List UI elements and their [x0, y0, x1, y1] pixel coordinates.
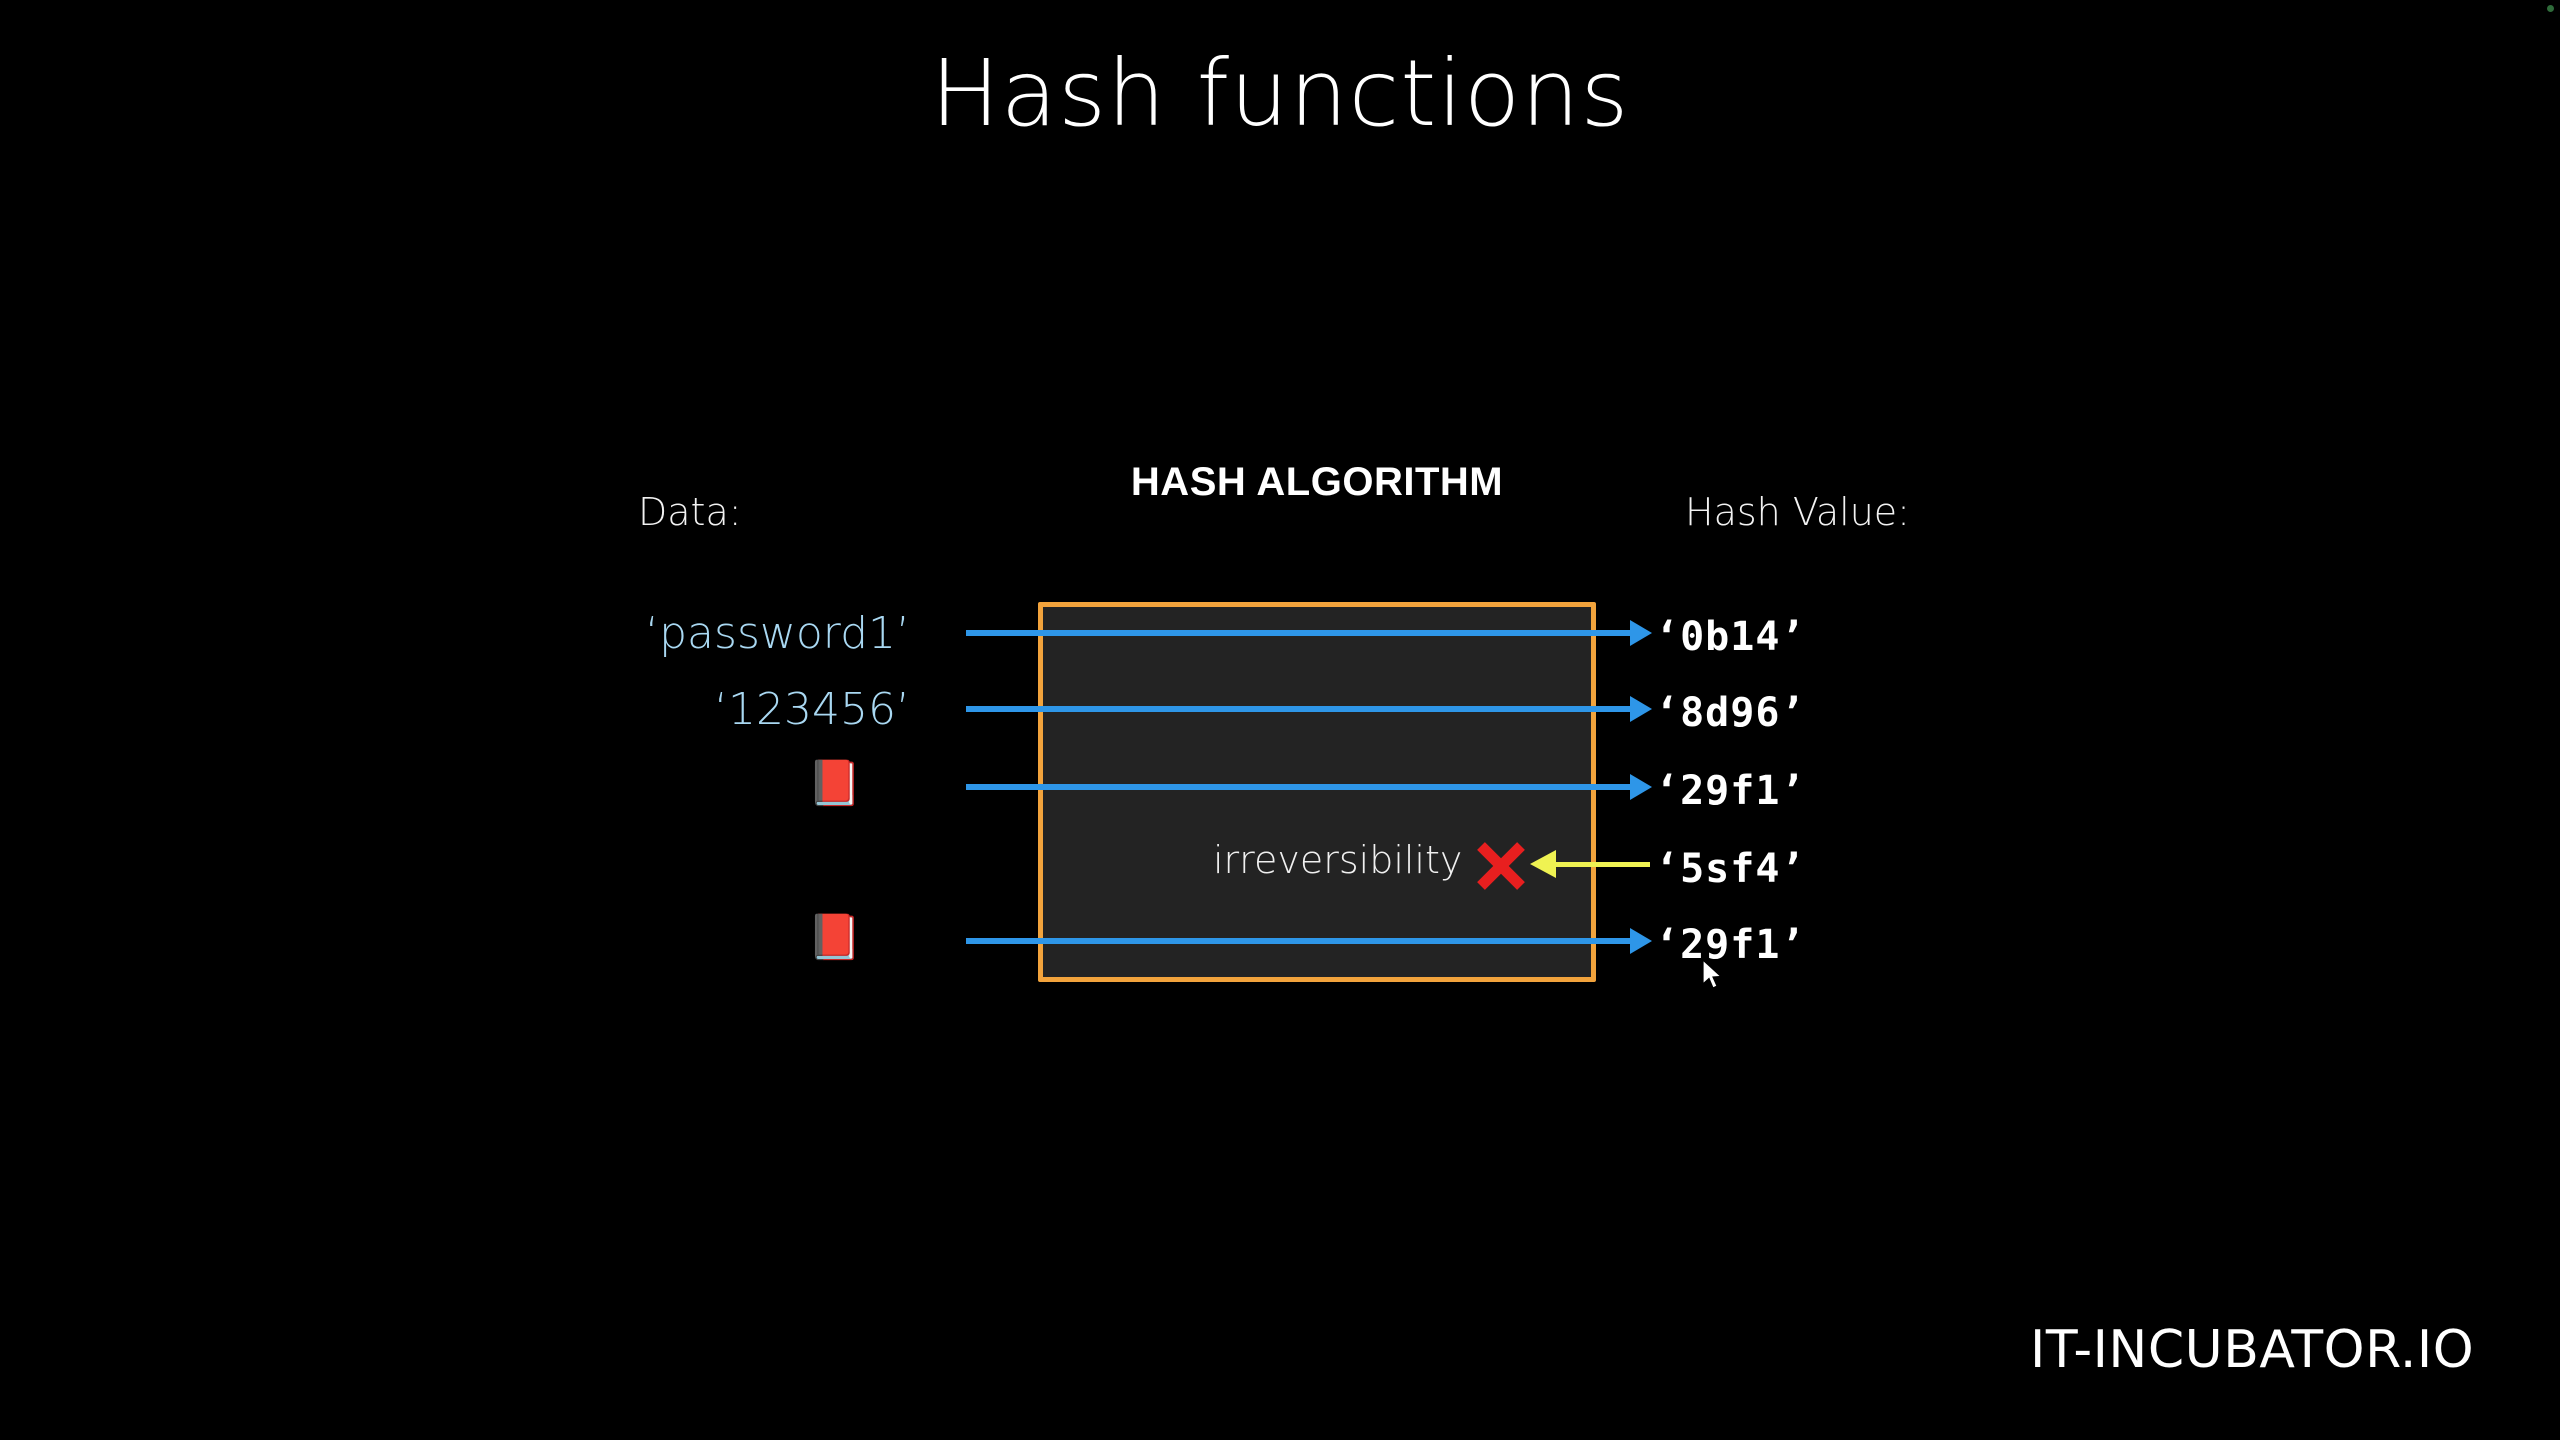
flow-arrowhead-row-3: [1630, 774, 1652, 800]
data-item-password1: ‘password1’: [645, 608, 910, 659]
hash-value-row-1: ‘0b14’: [1655, 614, 1806, 660]
data-item-123456: ‘123456’: [714, 684, 910, 735]
flow-line-row-1: [966, 630, 1638, 636]
red-cross-icon: [1473, 838, 1529, 894]
slide-canvas: Hash functions Data: HASH ALGORITHM Hash…: [0, 0, 2560, 1440]
branding-text: IT-INCUBATOR.IO: [2030, 1320, 2474, 1380]
hash-value-row-5: ‘29f1’: [1655, 922, 1806, 968]
recording-indicator-dot: [2547, 5, 2554, 12]
irreversibility-label: irreversibility: [1213, 838, 1462, 882]
flow-line-row-3: [966, 784, 1638, 790]
red-book-icon-row-5: 📕: [807, 916, 862, 960]
flow-arrowhead-row-5: [1630, 928, 1652, 954]
flow-arrowhead-row-2: [1630, 696, 1652, 722]
red-book-icon-row-3: 📕: [807, 762, 862, 806]
hash-value-row-2: ‘8d96’: [1655, 690, 1806, 736]
irreversibility-arrowhead: [1530, 850, 1556, 878]
hash-value-row-3: ‘29f1’: [1655, 768, 1806, 814]
flow-arrowhead-row-1: [1630, 620, 1652, 646]
hash-algorithm-label: HASH ALGORITHM: [1038, 460, 1596, 505]
flow-line-row-2: [966, 706, 1638, 712]
mouse-cursor-icon: [1703, 960, 1725, 992]
hash-algorithm-box: [1038, 602, 1596, 982]
irreversibility-arrow-line: [1552, 862, 1650, 867]
flow-line-row-5: [966, 938, 1638, 944]
data-column-label: Data:: [638, 490, 742, 534]
hash-value-column-label: Hash Value:: [1685, 490, 1910, 534]
page-title: Hash functions: [0, 40, 2560, 147]
hash-value-row-4: ‘5sf4’: [1655, 846, 1806, 892]
